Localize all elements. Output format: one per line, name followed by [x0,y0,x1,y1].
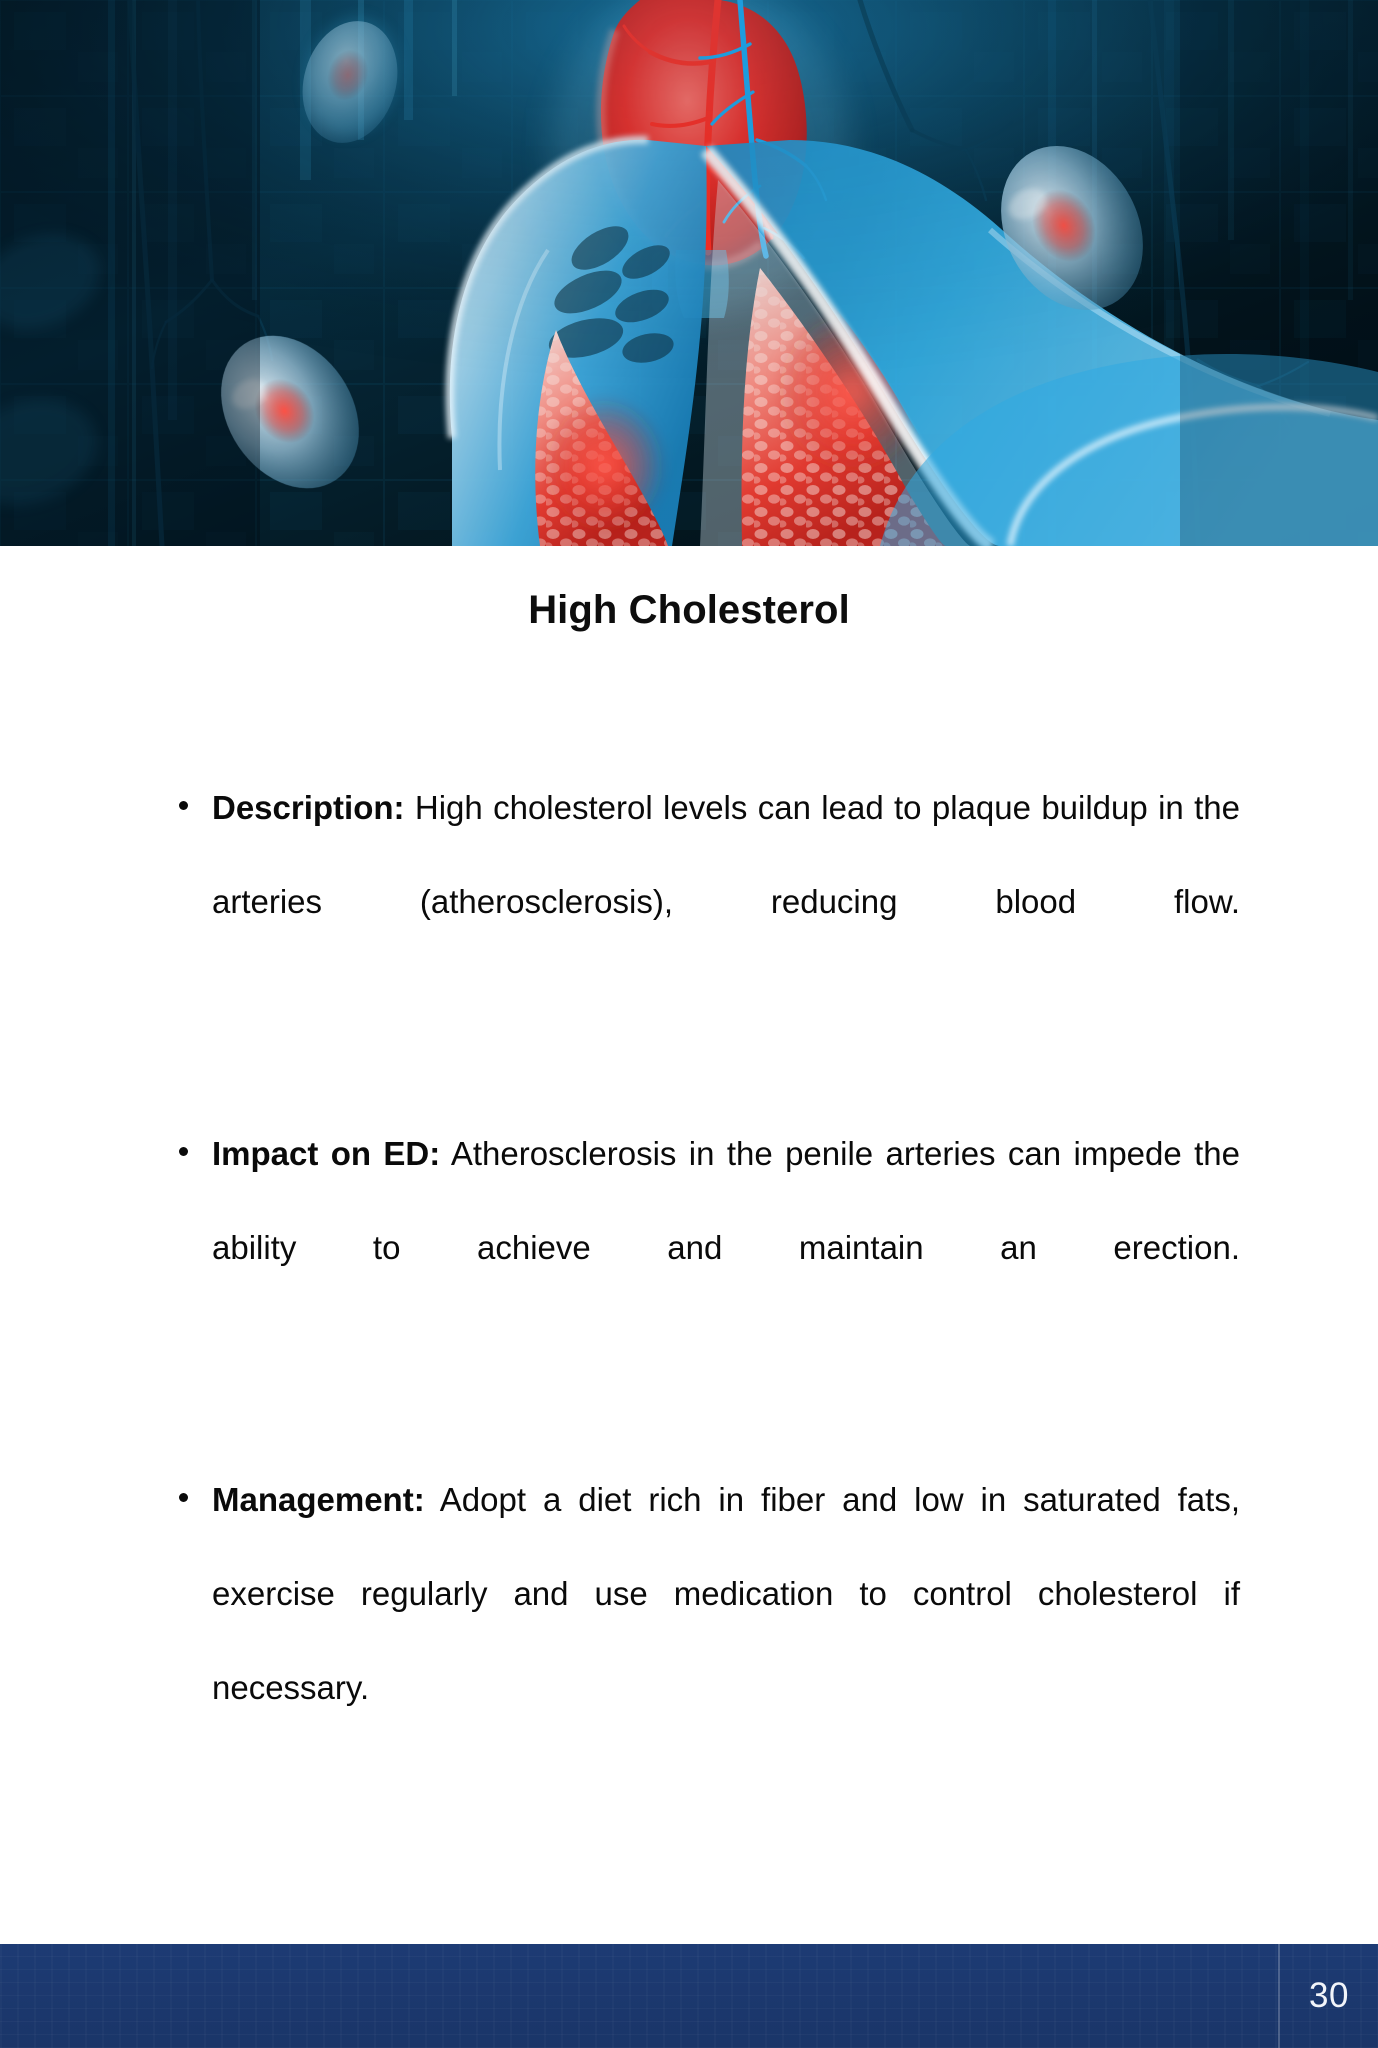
bullet-text: Management: Adopt a diet rich in fiber a… [212,1481,1240,1800]
bullet-dot-icon [179,1147,188,1156]
bullet-dot-icon [179,1493,188,1502]
artery-cholesterol-illustration [0,0,1378,546]
list-item: Management: Adopt a diet rich in fiber a… [175,1453,1240,1829]
bullet-lead-label: Impact on ED: [212,1135,440,1172]
bullet-lead-label: Management: [212,1481,425,1518]
page-title: High Cholesterol [0,588,1378,633]
page-number: 30 [1280,1944,1378,2048]
slide-footer: 30 [0,1944,1378,2048]
bullet-dot-icon [179,801,188,810]
bullet-text: Description: High cholesterol levels can… [212,789,1240,1014]
slide-content: High Cholesterol Description: High chole… [0,546,1378,1944]
list-item: Description: High cholesterol levels can… [175,761,1240,1043]
bullet-lead-label: Description: [212,789,405,826]
bullet-text: Impact on ED: Atherosclerosis in the pen… [212,1135,1240,1360]
bullet-list: Description: High cholesterol levels can… [175,761,1240,1829]
list-item: Impact on ED: Atherosclerosis in the pen… [175,1107,1240,1389]
hero-image [0,0,1378,546]
